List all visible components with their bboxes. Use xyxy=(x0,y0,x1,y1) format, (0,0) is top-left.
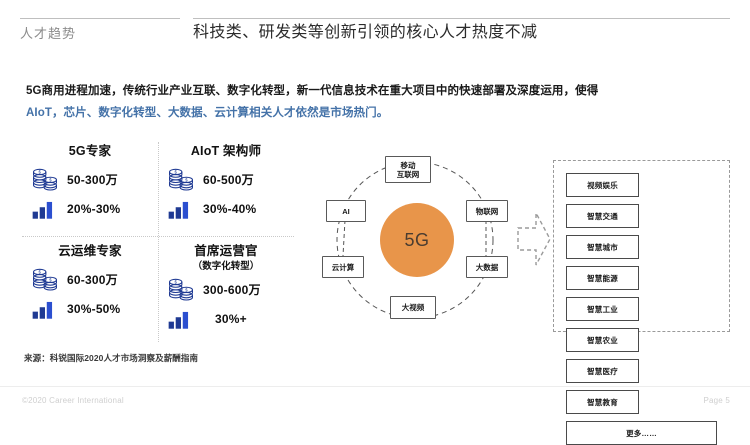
growth-value: 30%-40% xyxy=(203,202,256,216)
svg-text:$: $ xyxy=(49,278,52,283)
right-arrow-icon xyxy=(516,210,552,268)
page-title: 科技类、研发类等创新引领的核心人才热度不减 xyxy=(193,22,730,44)
growth-value: 30%-50% xyxy=(67,302,120,316)
role-title: 云运维专家 xyxy=(22,242,158,259)
salary-value: 300-600万 xyxy=(203,281,261,298)
svg-text:$: $ xyxy=(174,170,177,175)
diagram-node-mobile-internet: 移动互联网 xyxy=(385,156,431,183)
application-chip: 智慧城市 xyxy=(566,235,639,259)
svg-text:$: $ xyxy=(38,170,41,175)
bar-chart-icon xyxy=(166,307,196,331)
footer-page-number: Page 5 xyxy=(703,396,730,405)
application-chip-more: 更多…… xyxy=(566,421,717,445)
diagram-node-big-video: 大视频 xyxy=(390,296,436,319)
role-title-text: 云运维专家 xyxy=(58,244,122,258)
bar-chart-icon xyxy=(30,197,60,221)
role-title-text: AIoT 架构师 xyxy=(191,144,261,158)
source-note: 来源：科锐国际2020人才市场洞察及薪酬指南 xyxy=(24,352,324,364)
application-chip: 智慧交通 xyxy=(566,204,639,228)
salary-value: 60-500万 xyxy=(203,171,254,188)
table-cell: 5G专家 $ xyxy=(22,142,158,236)
svg-text:$: $ xyxy=(49,178,52,183)
coin-stack-icon: $ $ xyxy=(30,167,60,191)
bar-chart-icon xyxy=(166,197,196,221)
growth-row: 20%-30% xyxy=(22,196,158,222)
application-chip: 视频娱乐 xyxy=(566,173,639,197)
diagram-node-iot: 物联网 xyxy=(466,200,508,222)
table-cell: 首席运营官 （数字化转型） xyxy=(158,242,294,336)
growth-row: 30%-40% xyxy=(158,196,294,222)
applications-panel: 视频娱乐 智慧交通 智慧城市 智慧能源 智慧工业 智慧农业 智慧医疗 智慧教育 … xyxy=(553,160,730,332)
header-rule-left xyxy=(20,18,180,19)
intro-line-2: AIoT，芯片、数字化转型、大数据、云计算相关人才依然是市场热门。 xyxy=(26,102,696,124)
table-horizontal-divider xyxy=(22,236,294,237)
application-chip: 智慧工业 xyxy=(566,297,639,321)
table-cell: 云运维专家 $ xyxy=(22,242,158,336)
salary-row: $ $ 60-300万 xyxy=(22,266,158,292)
footer-rule xyxy=(0,386,750,387)
application-chip: 智慧农业 xyxy=(566,328,639,352)
diagram-node-big-data: 大数据 xyxy=(466,256,508,278)
salary-table: 5G专家 $ xyxy=(22,142,294,342)
diagram-node-ai: AI xyxy=(326,200,366,222)
salary-row: $ $ 60-500万 xyxy=(158,166,294,192)
role-title-text: 5G专家 xyxy=(69,144,111,158)
salary-row: $ $ 50-300万 xyxy=(22,166,158,192)
svg-text:$: $ xyxy=(38,270,41,275)
section-kicker: 人才趋势 xyxy=(20,25,185,43)
growth-value: 30%+ xyxy=(203,312,247,326)
diagram-node-cloud-computing: 云计算 xyxy=(322,256,364,278)
role-subtitle: （数字化转型） xyxy=(158,259,294,274)
applications-grid: 视频娱乐 智慧交通 智慧城市 智慧能源 智慧工业 智慧农业 智慧医疗 智慧教育 … xyxy=(566,173,717,445)
growth-value: 20%-30% xyxy=(67,202,120,216)
salary-value: 50-300万 xyxy=(67,171,118,188)
application-chip: 智慧能源 xyxy=(566,266,639,290)
application-chip: 智慧教育 xyxy=(566,390,639,414)
growth-row: 30%+ xyxy=(158,306,294,332)
diagram-core: 5G xyxy=(380,203,454,277)
bar-chart-icon xyxy=(30,297,60,321)
role-title: 5G专家 xyxy=(22,142,158,159)
intro-paragraph: 5G商用进程加速，传统行业产业互联、数字化转型，新一代信息技术在重大项目中的快速… xyxy=(26,80,696,124)
slide: 人才趋势 科技类、研发类等创新引领的核心人才热度不减 5G商用进程加速，传统行业… xyxy=(0,0,750,419)
intro-line-1: 5G商用进程加速，传统行业产业互联、数字化转型，新一代信息技术在重大项目中的快速… xyxy=(26,85,598,97)
coin-stack-icon: $ $ xyxy=(166,277,196,301)
role-title: AIoT 架构师 xyxy=(158,142,294,159)
coin-stack-icon: $ $ xyxy=(30,267,60,291)
table-cell: AIoT 架构师 $ xyxy=(158,142,294,236)
role-title: 首席运营官 （数字化转型） xyxy=(158,242,294,274)
svg-text:$: $ xyxy=(185,178,188,183)
svg-text:$: $ xyxy=(174,280,177,285)
salary-value: 60-300万 xyxy=(67,271,118,288)
salary-row: $ $ 300-600万 xyxy=(158,276,294,302)
coin-stack-icon: $ $ xyxy=(166,167,196,191)
header-rule-right xyxy=(193,18,730,19)
svg-text:$: $ xyxy=(185,288,188,293)
5g-ecosystem-diagram: 5G 移动互联网 物联网 大数据 大视频 云计算 AI xyxy=(318,148,518,333)
application-chip: 智慧医疗 xyxy=(566,359,639,383)
role-title-text: 首席运营官 xyxy=(194,244,258,258)
growth-row: 30%-50% xyxy=(22,296,158,322)
footer-copyright: ©2020 Career International xyxy=(22,396,124,405)
